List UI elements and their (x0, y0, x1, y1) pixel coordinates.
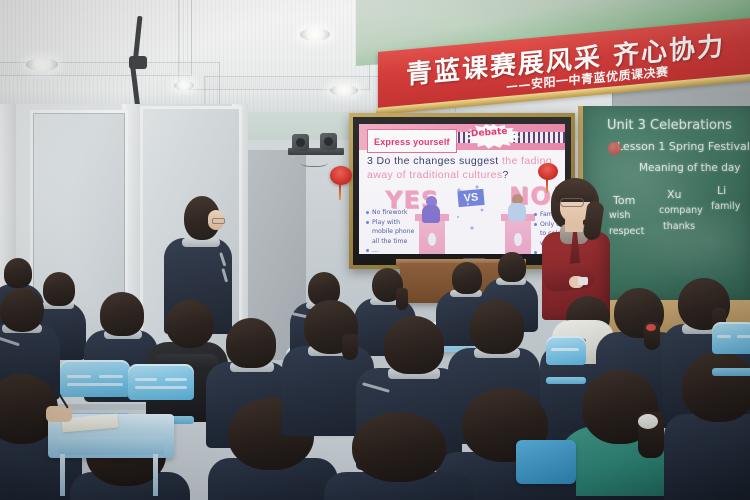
slide-question-line1: 3 Do the changes suggest the fading (367, 155, 552, 167)
wall-speaker-icon (320, 133, 337, 150)
question-line2-pink: away of traditional cultures (367, 169, 503, 181)
downlight (174, 81, 194, 90)
teacher (541, 172, 613, 317)
blackboard-col1-word2: respect (609, 226, 644, 237)
speaker-left-illustration (421, 196, 441, 222)
yes-bullet-1: No firework (366, 208, 422, 218)
ceiling-mount-arm (123, 16, 157, 111)
student-chair (546, 336, 586, 384)
yes-bullet-list: No firework Play with mobile phone all t… (366, 208, 422, 254)
blackboard-col2-word2: thanks (663, 221, 695, 232)
smartboard-screen[interactable]: Express yourself Debate 3 Do the changes… (359, 124, 565, 254)
blackboard-col3-word1: family (711, 201, 740, 212)
slide-question-line2: away of traditional cultures? (367, 169, 509, 181)
blackboard-col3-name: Li (717, 184, 726, 197)
smartboard-bezel: Express yourself Debate 3 Do the changes… (353, 117, 571, 265)
downlight (300, 28, 330, 41)
blackboard-line-lesson: Lesson 1 Spring Festival (617, 140, 750, 153)
paper-cut-seal-icon (608, 142, 621, 155)
blackboard-col2-name: Xu (667, 188, 682, 201)
classroom-photo: 青蓝课赛展风采 齐心协力 ——安阳一中青蓝优质课决赛 Unit 3 Celebr… (0, 0, 750, 500)
blackboard-line-meaning: Meaning of the day (639, 162, 741, 174)
slide-title-box: Express yourself (367, 129, 457, 153)
blackboard-line-unit: Unit 3 Celebrations (607, 118, 732, 133)
sparkle-decoration-icon (455, 184, 487, 239)
speaker-right-illustration (507, 194, 527, 220)
slide-title-text: Express yourself (374, 137, 450, 147)
remote-clicker-icon (578, 277, 588, 285)
student-hand (46, 406, 72, 422)
question-line1-dark: 3 Do the changes suggest (367, 155, 499, 167)
hair-tie-icon (646, 324, 656, 331)
glasses-icon (560, 198, 584, 207)
blue-folder (516, 440, 576, 484)
podium-left-illustration (419, 219, 445, 254)
red-lantern-icon (330, 166, 352, 185)
blackboard-col2-word1: company (659, 205, 703, 216)
hair-tie-icon (638, 414, 658, 429)
student-chair (712, 322, 750, 376)
yes-bullet-2: Play with mobile phone all the time (366, 218, 422, 247)
question-mark: ? (503, 169, 509, 181)
podium-right-illustration (505, 219, 531, 254)
speaker-cable (300, 156, 328, 167)
downlight (26, 58, 58, 71)
wall-speaker-icon (292, 134, 309, 151)
yes-bullet-3: … (366, 246, 422, 254)
blackboard-col1-name: Tom (613, 194, 635, 207)
